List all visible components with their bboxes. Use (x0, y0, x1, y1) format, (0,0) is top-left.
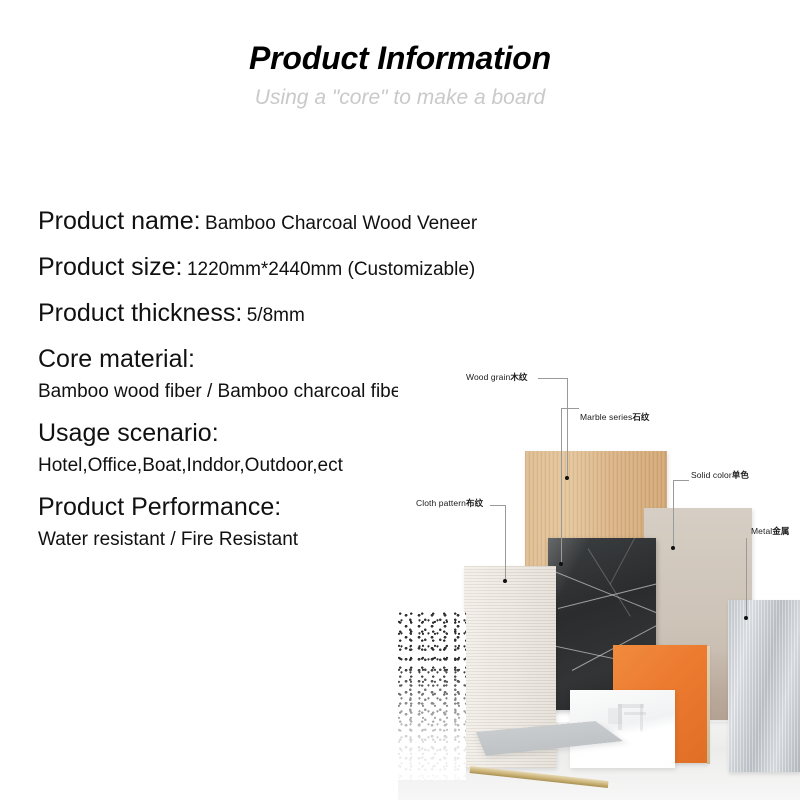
product-photo: Wood grain木纹 Marble series石纹 Solid color… (398, 350, 800, 800)
spec-label: Product size: (38, 253, 183, 281)
marble-vein (548, 566, 656, 619)
spec-label: Product name: (38, 207, 201, 235)
header: Product Information Using a "core" to ma… (0, 38, 800, 112)
annotation-dot-wood-grain (565, 476, 569, 480)
annotation-cloth-pattern: Cloth pattern布纹 (416, 498, 483, 509)
page-subtitle: Using a "core" to make a board (0, 84, 800, 112)
leader-line-cloth-pattern (490, 505, 506, 506)
chair-reflection (640, 704, 643, 732)
spec-row-product-size: Product size: 1220mm*2440mm (Customizabl… (38, 251, 598, 286)
marble-vein (610, 538, 644, 585)
leader-line-solid-color (673, 480, 689, 481)
annotation-label-en: Marble series (580, 412, 632, 422)
annotation-label-en: Cloth pattern (416, 498, 466, 508)
chair-reflection (624, 712, 646, 715)
spec-value: 1220mm*2440mm (Customizable) (187, 259, 475, 280)
annotation-label-cn: 布纹 (466, 498, 483, 508)
annotation-label-en: Metal (751, 526, 772, 536)
annotation-dot-metal (744, 616, 748, 620)
annotation-label-cn: 金属 (772, 526, 789, 536)
annotation-label-en: Wood grain (466, 372, 510, 382)
spec-value: 5/8mm (247, 305, 305, 326)
spec-label: Product thickness: (38, 299, 242, 327)
panel-foam-texture (398, 612, 466, 780)
leader-line-cloth-pattern (505, 505, 506, 581)
annotation-wood-grain: Wood grain木纹 (466, 372, 528, 383)
leader-line-wood-grain (538, 378, 567, 379)
annotation-dot-marble-series (559, 562, 563, 566)
leader-line-marble-series (561, 408, 579, 409)
leader-line-solid-color (673, 480, 674, 548)
annotation-dot-solid-color (671, 546, 675, 550)
annotation-marble-series: Marble series石纹 (580, 412, 650, 423)
spec-value: Bamboo Charcoal Wood Veneer (205, 213, 477, 234)
leader-line-metal (746, 538, 747, 618)
annotation-dot-cloth-pattern (503, 579, 507, 583)
annotation-solid-color: Solid color单色 (691, 470, 749, 481)
panel-metal (728, 600, 800, 772)
leader-line-marble-series (561, 408, 562, 564)
annotation-label-cn: 单色 (732, 470, 749, 480)
annotation-label-cn: 石纹 (632, 412, 649, 422)
annotation-metal: Metal金属 (751, 526, 790, 537)
spec-row-product-name: Product name: Bamboo Charcoal Wood Venee… (38, 205, 598, 240)
annotation-label-cn: 木纹 (510, 372, 527, 382)
product-information-page: Product Information Using a "core" to ma… (0, 0, 800, 800)
leader-line-wood-grain (567, 378, 568, 478)
page-title: Product Information (0, 38, 800, 78)
marble-vein (558, 579, 656, 609)
chair-reflection (608, 708, 622, 724)
annotation-label-en: Solid color (691, 470, 732, 480)
spec-row-product-thickness: Product thickness: 5/8mm (38, 297, 598, 332)
